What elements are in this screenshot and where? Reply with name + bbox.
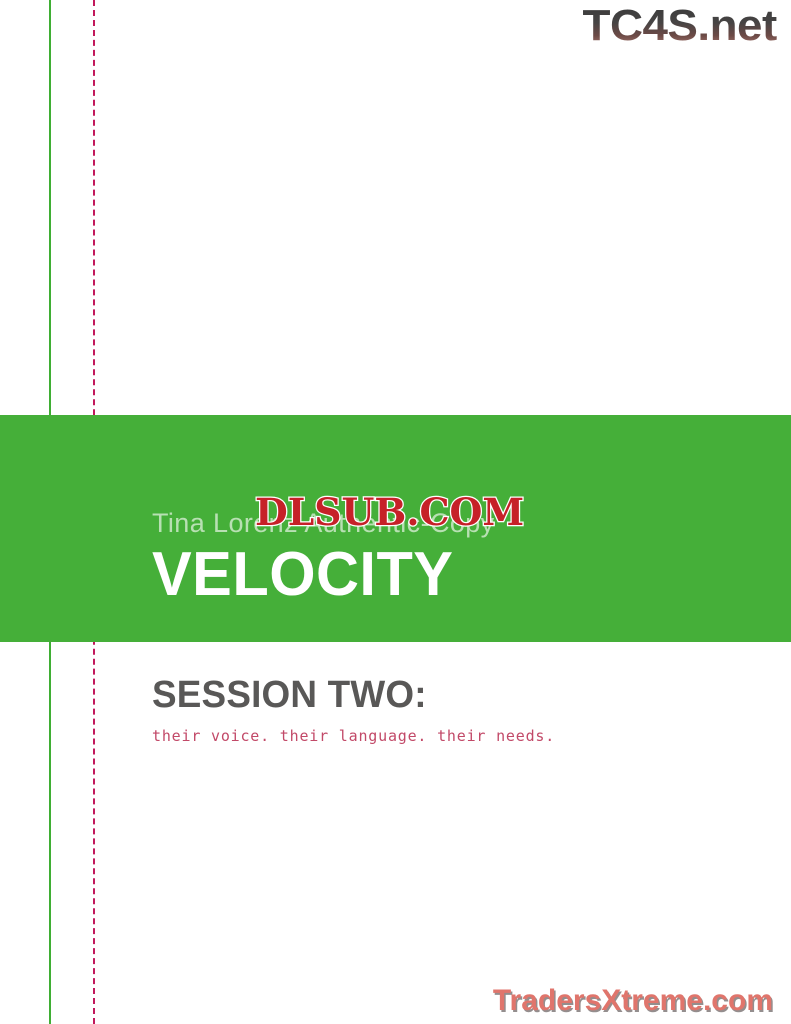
page-title: VELOCITY xyxy=(152,542,728,608)
session-heading: SESSION TWO: xyxy=(152,674,695,716)
watermark-bottom-right: TradersXtreme.com xyxy=(493,986,773,1016)
watermark-top-right: TC4S.net xyxy=(583,4,777,48)
session-subtitle: their voice. their language. their needs… xyxy=(152,726,712,746)
document-page: TC4S.net Tina Lorenz Authentic-Copy VELO… xyxy=(0,0,791,1024)
session-block: SESSION TWO: their voice. their language… xyxy=(152,674,712,746)
watermark-center: DLSUB.COM xyxy=(255,492,524,532)
